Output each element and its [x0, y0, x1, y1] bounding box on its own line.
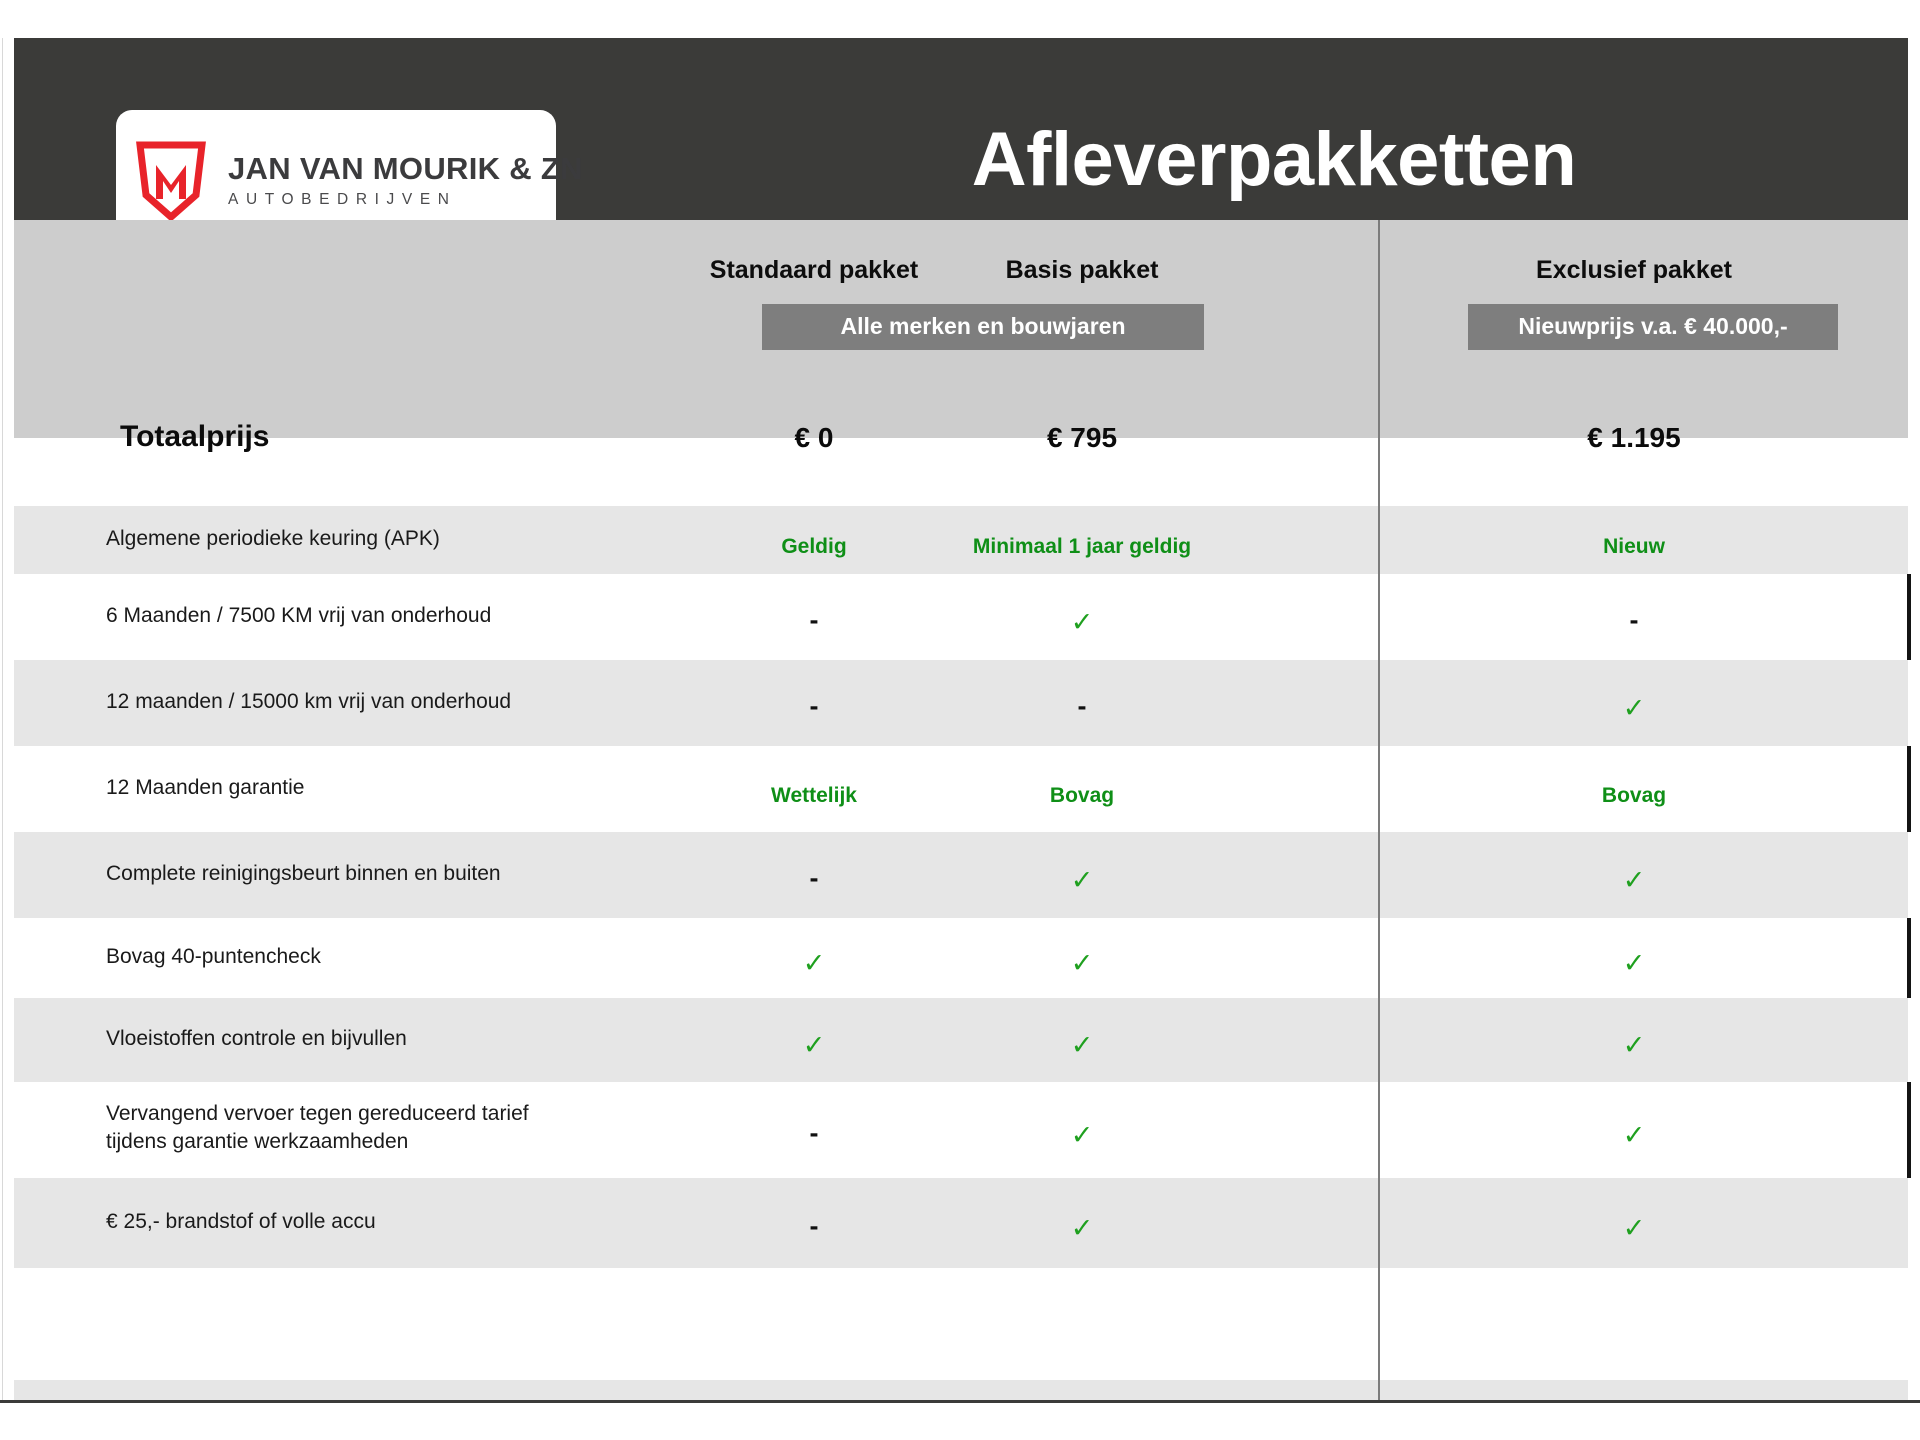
table-row: Algemene periodieke keuring (APK)GeldigM… [14, 506, 1908, 574]
table-row: Complete reinigingsbeurt binnen en buite… [14, 832, 1908, 918]
feature-value-standaard: ✓ [674, 950, 954, 977]
feature-value-exclusief: ✓ [1434, 867, 1834, 894]
feature-value-basis: - [962, 693, 1202, 720]
feature-value-basis: ✓ [962, 1032, 1202, 1059]
spacer-band [14, 468, 1908, 506]
feature-value-standaard: - [674, 1120, 954, 1147]
feature-label: € 25,- brandstof of volle accu [106, 1208, 376, 1236]
afleverpakketten-page: JAN VAN MOURIK & ZN AUTOBEDRIJVEN Afleve… [0, 0, 1920, 1440]
table-row: 12 Maanden garantieWettelijkBovagBovag [14, 746, 1908, 832]
feature-value-basis: Minimaal 1 jaar geldig [962, 536, 1202, 557]
edge-artifact [1907, 1082, 1911, 1178]
feature-label: 12 maanden / 15000 km vrij van onderhoud [106, 688, 511, 716]
table-row: Vervangend vervoer tegen gereduceerd tar… [14, 1082, 1908, 1178]
feature-value-exclusief: Nieuw [1434, 536, 1834, 557]
feature-value-basis: Bovag [962, 785, 1202, 806]
feature-value-exclusief: ✓ [1434, 1032, 1834, 1059]
column-divider [1378, 220, 1380, 1400]
tail-light-band [14, 1380, 1908, 1400]
feature-value-basis: ✓ [962, 867, 1202, 894]
logo-text: JAN VAN MOURIK & ZN AUTOBEDRIJVEN [228, 153, 583, 209]
feature-label: Bovag 40-puntencheck [106, 943, 321, 971]
feature-value-standaard: - [674, 693, 954, 720]
feature-value-standaard: ✓ [674, 1032, 954, 1059]
feature-label: Vervangend vervoer tegen gereduceerd tar… [106, 1100, 529, 1157]
total-price-row: Totaalprijs € 0 € 795 € 1.195 [14, 408, 1908, 468]
feature-label: Complete reinigingsbeurt binnen en buite… [106, 860, 501, 888]
table-row: Bovag 40-puntencheck✓✓✓ [14, 918, 1908, 998]
feature-value-basis: ✓ [962, 1122, 1202, 1149]
feature-value-standaard: - [674, 1213, 954, 1240]
bottom-rule [0, 1400, 1920, 1403]
table-row: 12 maanden / 15000 km vrij van onderhoud… [14, 660, 1908, 746]
page-title: Afleverpakketten [774, 116, 1774, 203]
edge-artifact [1907, 918, 1911, 998]
feature-label: Algemene periodieke keuring (APK) [106, 525, 440, 553]
feature-value-exclusief: ✓ [1434, 695, 1834, 722]
table-row: 6 Maanden / 7500 KM vrij van onderhoud-✓… [14, 574, 1908, 660]
left-rule [2, 38, 3, 1400]
feature-value-exclusief: Bovag [1434, 785, 1834, 806]
feature-label: Vloeistoffen controle en bijvullen [106, 1025, 407, 1053]
column-header-standaard: Standaard pakket [674, 256, 954, 285]
badge-alle-merken: Alle merken en bouwjaren [762, 304, 1204, 350]
feature-value-basis: ✓ [962, 950, 1202, 977]
edge-artifact [1907, 574, 1911, 660]
edge-artifact [1907, 746, 1911, 832]
feature-label: 6 Maanden / 7500 KM vrij van onderhoud [106, 602, 491, 630]
feature-value-basis: ✓ [962, 1215, 1202, 1242]
comparison-table: Standaard pakket Basis pakket Exclusief … [14, 220, 1908, 1400]
column-header-exclusief: Exclusief pakket [1434, 256, 1834, 285]
feature-value-standaard: Wettelijk [674, 785, 954, 806]
logo-company-name: JAN VAN MOURIK & ZN [228, 153, 583, 186]
feature-rows: Algemene periodieke keuring (APK)GeldigM… [14, 506, 1908, 1268]
feature-label: 12 Maanden garantie [106, 774, 305, 802]
logo-company-subtitle: AUTOBEDRIJVEN [228, 191, 583, 209]
feature-value-standaard: - [674, 865, 954, 892]
feature-value-standaard: - [674, 607, 954, 634]
total-price-exclusief: € 1.195 [1434, 422, 1834, 454]
header-band: JAN VAN MOURIK & ZN AUTOBEDRIJVEN Afleve… [14, 38, 1908, 220]
feature-value-exclusief: ✓ [1434, 1122, 1834, 1149]
table-header-block: Standaard pakket Basis pakket Exclusief … [14, 220, 1908, 438]
feature-value-basis: ✓ [962, 609, 1202, 636]
shield-m-logo-icon [136, 141, 206, 221]
tail-white-band [14, 1308, 1908, 1380]
column-header-basis: Basis pakket [962, 256, 1202, 285]
feature-value-exclusief: ✓ [1434, 1215, 1834, 1242]
table-row: Vloeistoffen controle en bijvullen✓✓✓ [14, 998, 1908, 1082]
total-price-basis: € 795 [962, 422, 1202, 454]
badge-nieuwprijs: Nieuwprijs v.a. € 40.000,- [1468, 304, 1838, 350]
feature-value-exclusief: ✓ [1434, 950, 1834, 977]
total-price-standaard: € 0 [674, 422, 954, 454]
table-row: € 25,- brandstof of volle accu-✓✓ [14, 1178, 1908, 1268]
total-price-label: Totaalprijs [120, 420, 269, 454]
feature-value-standaard: Geldig [674, 536, 954, 557]
feature-value-exclusief: - [1434, 607, 1834, 634]
